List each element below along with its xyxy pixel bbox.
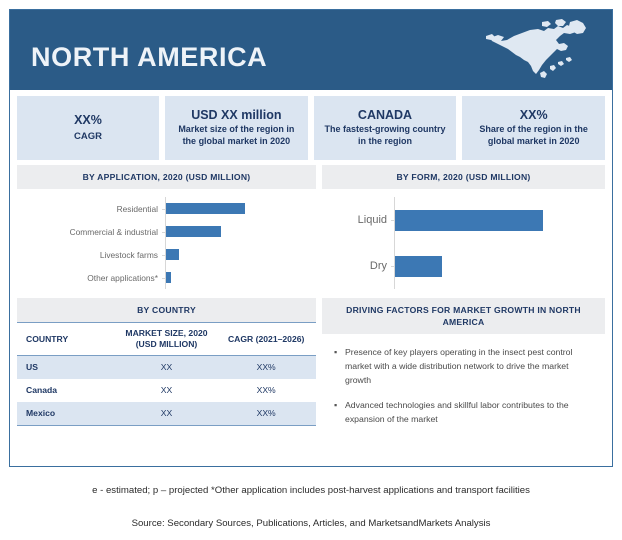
table-bottom-rule [17,425,316,426]
stat-label: The fastest-growing country in the regio… [320,124,451,148]
header-banner: NORTH AMERICA [10,10,612,90]
stat-card-market-size: USD XX million Market size of the region… [165,96,308,160]
bar-commercial-industrial [166,226,221,237]
stat-value: XX% [520,108,548,124]
panel-title-form: BY FORM, 2020 (USD MILLION) [322,165,605,189]
cell-country: US [17,356,117,379]
bar-track [165,197,316,220]
north-america-map-icon [484,16,594,84]
bar-row: Other applications* [17,266,316,289]
table-row: US XX XX% [17,356,316,379]
infographic-frame: NORTH AMERICA [9,9,613,467]
panel-title-driving-factors: DRIVING FACTORS FOR MARKET GROWTH IN NOR… [322,298,605,334]
bar-row: Liquid [322,197,605,243]
bar-category-label: Livestock farms [17,250,165,260]
bar-row: Residential [17,197,316,220]
bar-track [165,266,316,289]
page-title: NORTH AMERICA [31,44,267,71]
cell-cagr: XX% [216,356,316,379]
charts-panels-row: BY APPLICATION, 2020 (USD MILLION) Resid… [10,165,612,294]
infographic-root: NORTH AMERICA [0,0,622,540]
stat-card-cagr: XX% CAGR [17,96,159,160]
factor-text: Presence of key players operating in the… [345,345,595,387]
column-header-country: COUNTRY [17,323,117,356]
stat-card-fastest-country: CANADA The fastest-growing country in th… [314,96,457,160]
panel-title-application: BY APPLICATION, 2020 (USD MILLION) [17,165,316,189]
table-factors-row: BY COUNTRY COUNTRY MARKET SIZE, 2020 (US… [10,294,612,454]
panel-driving-factors: DRIVING FACTORS FOR MARKET GROWTH IN NOR… [322,298,605,454]
bar-track [165,243,316,266]
stat-cards-row: XX% CAGR USD XX million Market size of t… [10,90,612,165]
footnote-estimated-projected: e - estimated; p – projected *Other appl… [0,485,622,496]
cell-market-size: XX [117,356,217,379]
panel-by-application: BY APPLICATION, 2020 (USD MILLION) Resid… [17,165,316,294]
bar-track [165,220,316,243]
list-item: ▪ Advanced technologies and skillful lab… [334,398,595,426]
bar-row: Commercial & industrial [17,220,316,243]
panel-by-form: BY FORM, 2020 (USD MILLION) Liquid Dry [322,165,605,294]
bullet-square-icon: ▪ [334,345,345,387]
bar-row: Dry [322,243,605,289]
bar-category-label: Liquid [322,214,394,226]
table-row: Mexico XX XX% [17,402,316,425]
panel-title-country: BY COUNTRY [17,298,316,322]
bar-dry [395,256,442,277]
stat-value: USD XX million [191,108,281,124]
table-head: COUNTRY MARKET SIZE, 2020 (USD MILLION) … [17,323,316,356]
table-header-row: COUNTRY MARKET SIZE, 2020 (USD MILLION) … [17,323,316,356]
bar-category-label: Commercial & industrial [17,227,165,237]
bar-category-label: Other applications* [17,273,165,283]
footnote-source: Source: Secondary Sources, Publications,… [0,518,622,529]
stat-label: Market size of the region in the global … [171,124,302,148]
column-header-cagr: CAGR (2021–2026) [216,323,316,356]
bar-other-applications [166,272,171,283]
driving-factors-list: ▪ Presence of key players operating in t… [322,334,605,454]
bullet-square-icon: ▪ [334,398,345,426]
country-table: COUNTRY MARKET SIZE, 2020 (USD MILLION) … [17,322,316,425]
cell-country: Mexico [17,402,117,425]
table-row: Canada XX XX% [17,379,316,402]
bar-residential [166,203,245,214]
bar-liquid [395,210,543,231]
bar-category-label: Residential [17,204,165,214]
factor-text: Advanced technologies and skillful labor… [345,398,595,426]
stat-label: CAGR [74,131,102,144]
bar-livestock-farms [166,249,179,260]
stat-label: Share of the region in the global market… [468,124,599,148]
cell-market-size: XX [117,379,217,402]
bar-row: Livestock farms [17,243,316,266]
cell-market-size: XX [117,402,217,425]
bar-track [394,243,605,289]
bar-track [394,197,605,243]
stat-card-global-share: XX% Share of the region in the global ma… [462,96,605,160]
cell-cagr: XX% [216,402,316,425]
stat-value: XX% [74,113,102,129]
column-header-market-size: MARKET SIZE, 2020 (USD MILLION) [117,323,217,356]
list-item: ▪ Presence of key players operating in t… [334,345,595,387]
table-body: US XX XX% Canada XX XX% Mexico XX XX [17,356,316,425]
chart-by-form: Liquid Dry [322,189,605,294]
panel-by-country: BY COUNTRY COUNTRY MARKET SIZE, 2020 (US… [17,298,316,454]
bar-category-label: Dry [322,260,394,272]
stat-value: CANADA [358,108,412,124]
cell-cagr: XX% [216,379,316,402]
chart-by-application: Residential Commercial & industrial Live… [17,189,316,294]
cell-country: Canada [17,379,117,402]
